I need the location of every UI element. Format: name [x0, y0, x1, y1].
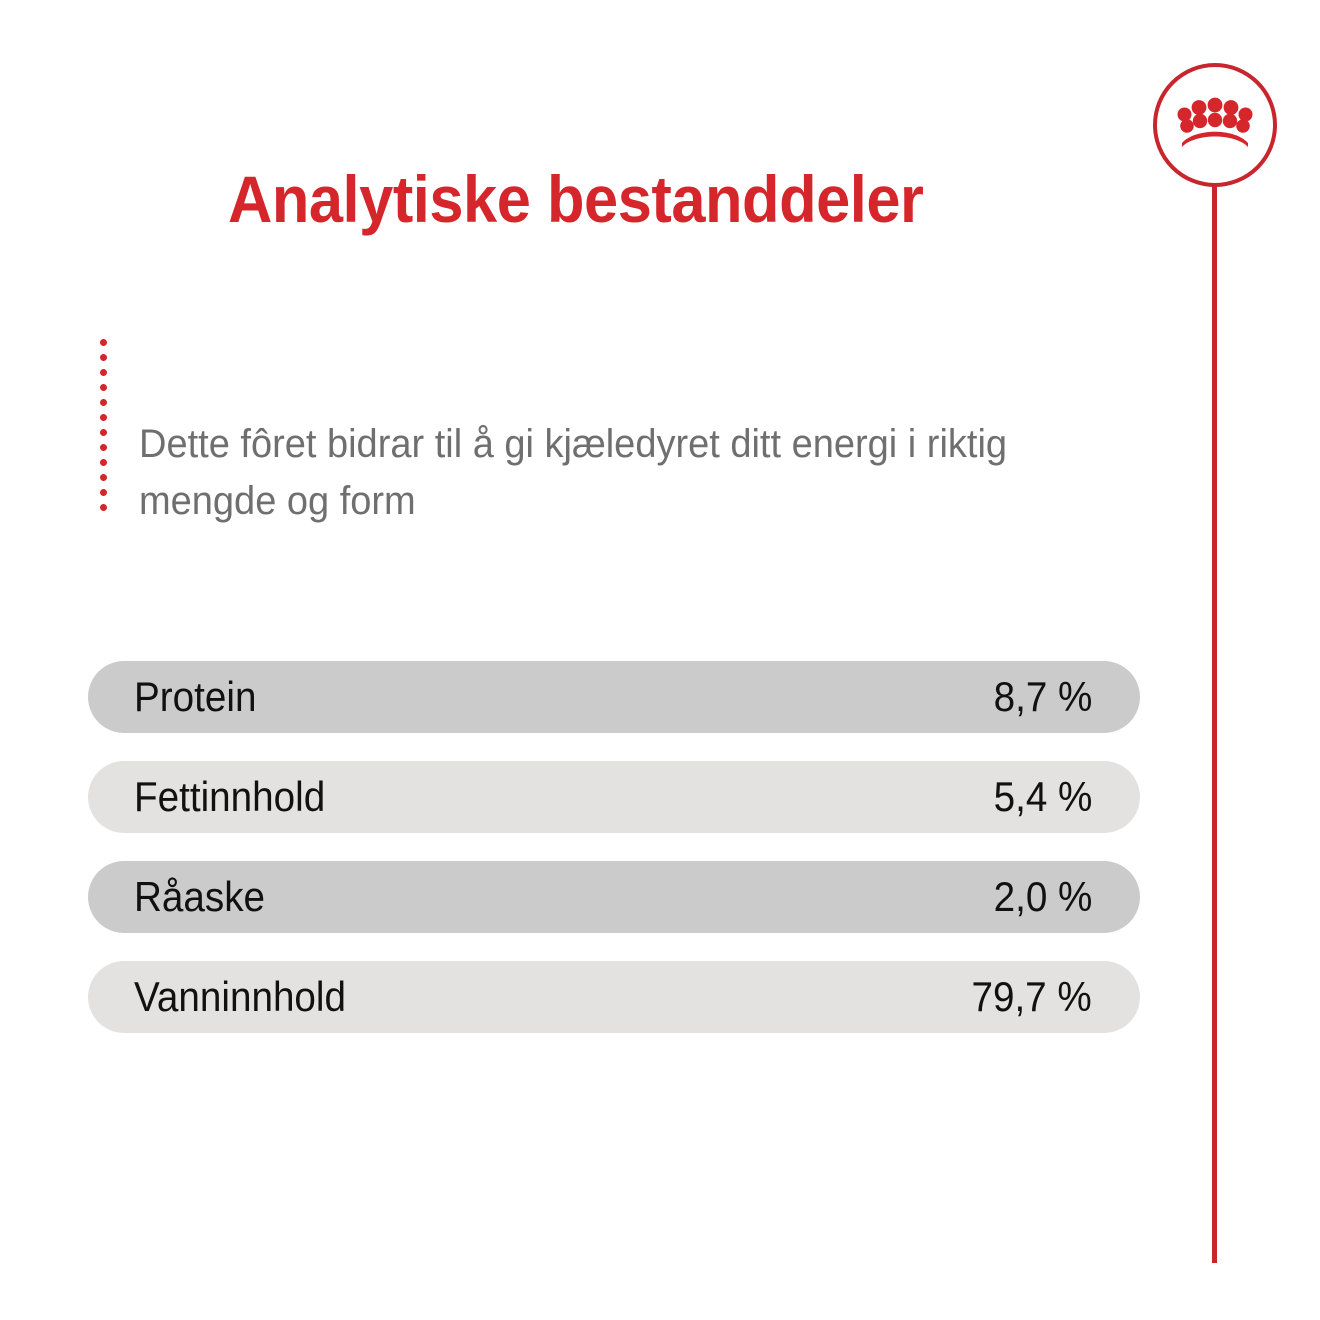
royal-canin-crown-icon: [1175, 97, 1255, 151]
row-value: 8,7 %: [993, 674, 1092, 720]
row-label: Protein: [134, 674, 256, 720]
row-label: Fettinnhold: [134, 774, 325, 820]
vertical-dotted-rule-icon: [99, 338, 108, 516]
row-label: Råaske: [134, 874, 265, 920]
row-value: 2,0 %: [993, 874, 1092, 920]
page-title: Analytiske bestanddeler: [228, 160, 1065, 238]
table-row: Protein 8,7 %: [88, 661, 1140, 733]
brand-logo: [1153, 63, 1277, 187]
row-value: 5,4 %: [993, 774, 1092, 820]
table-row: Råaske 2,0 %: [88, 861, 1140, 933]
brand-stem-line: [1212, 183, 1217, 1263]
table-row: Vanninnhold 79,7 %: [88, 961, 1140, 1033]
row-value: 79,7 %: [972, 974, 1092, 1020]
row-label: Vanninnhold: [134, 974, 346, 1020]
intro-text: Dette fôret bidrar til å gi kjæledyret d…: [139, 416, 1023, 530]
analytical-constituents-table: Protein 8,7 % Fettinnhold 5,4 % Råaske 2…: [88, 661, 1140, 1033]
table-row: Fettinnhold 5,4 %: [88, 761, 1140, 833]
